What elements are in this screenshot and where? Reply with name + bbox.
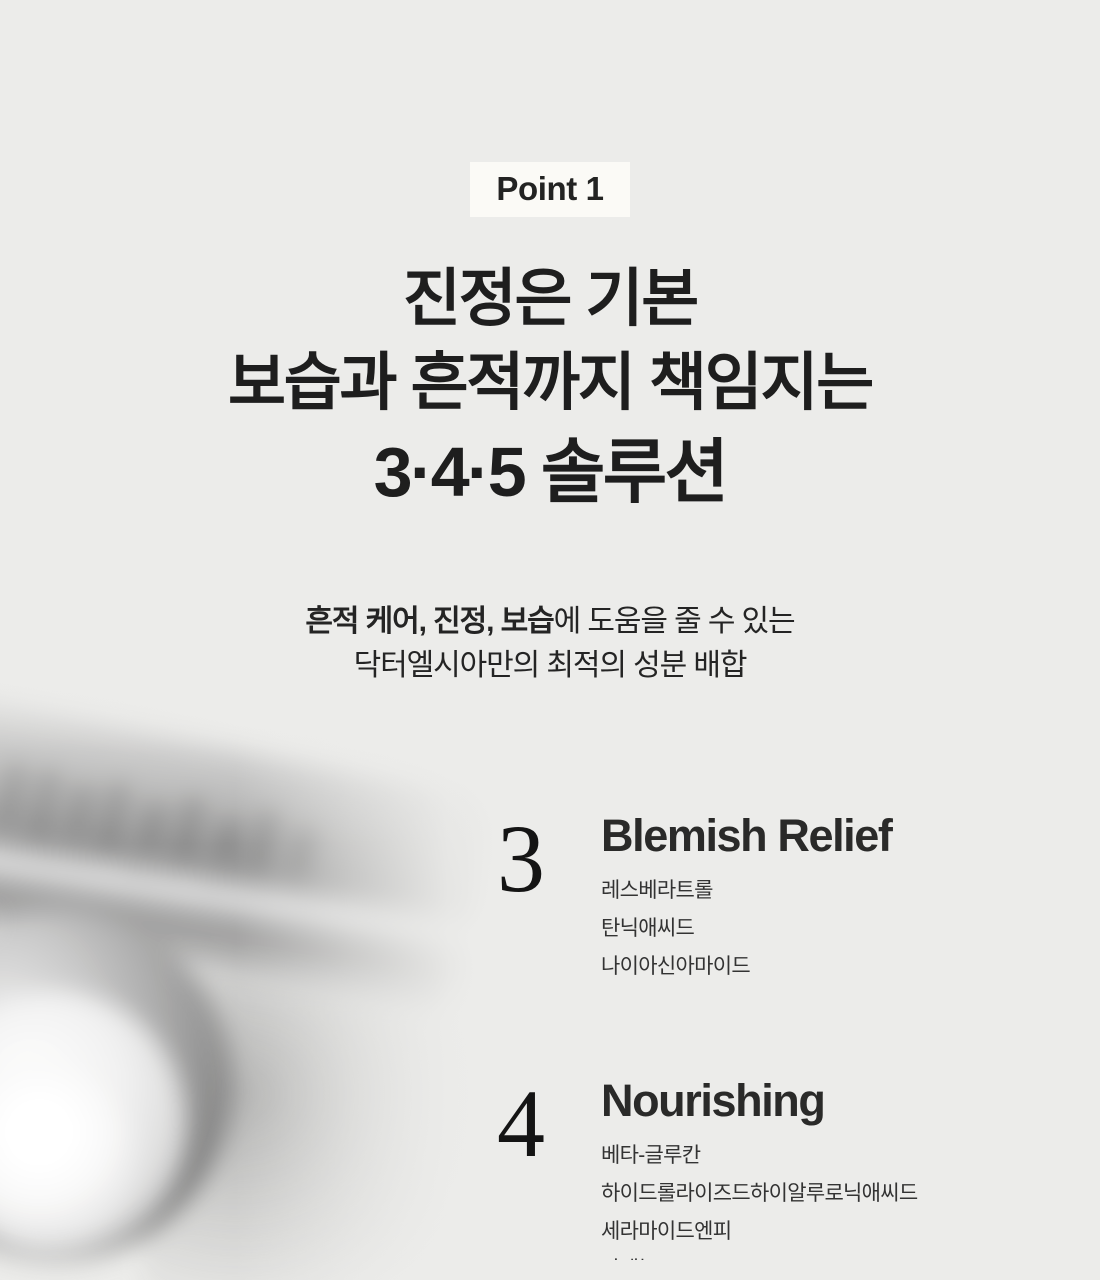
product-detail-page: Point 1 진정은 기본 보습과 흔적까지 책임지는 3·4·5 솔루션 흔… <box>0 0 1100 1280</box>
solution-title-4: Nourishing <box>601 1077 1097 1125</box>
ingredient-item: 탄닉애씨드 <box>601 910 1097 948</box>
solution-item-3: 3 Blemish Relief 레스베라트롤 탄닉애씨드 나이아신아마이드 <box>497 812 1097 986</box>
solution-body-4: Nourishing 베타-글루칸 하이드롤라이즈드하이알루로닉애씨드 세라마이… <box>601 1077 1097 1260</box>
tube-label-print <box>0 760 348 902</box>
solution-title-3: Blemish Relief <box>601 812 1097 860</box>
solution-number-3: 3 <box>497 812 577 906</box>
headline-line-2: 보습과 흔적까지 책임지는 <box>0 342 1100 426</box>
ingredient-item: 세라마이드엔피 <box>601 1213 1097 1251</box>
solution-number-4: 4 <box>497 1077 577 1171</box>
solution-item-4: 4 Nourishing 베타-글루칸 하이드롤라이즈드하이알루로닉애씨드 세라… <box>497 1077 1097 1260</box>
solution-body-3: Blemish Relief 레스베라트롤 탄닉애씨드 나이아신아마이드 <box>601 812 1097 986</box>
tube-label-caption <box>2 848 349 921</box>
subtitle-line-1: 흔적 케어, 진정, 보습에 도움을 줄 수 있는 <box>0 600 1100 644</box>
product-photo <box>0 620 560 1280</box>
product-photo-image <box>0 620 560 1280</box>
subtitle-rest: 에 도움을 줄 수 있는 <box>554 605 795 638</box>
photo-fade-right <box>0 620 560 1280</box>
ingredient-item: 하이드롤라이즈드하이알루로닉애씨드 <box>601 1175 1097 1213</box>
headline-line-3: 3·4·5 솔루션 <box>0 428 1100 518</box>
point-badge-row: Point 1 <box>0 162 1100 217</box>
tube-cap <box>0 910 231 1260</box>
point-badge: Point 1 <box>470 162 629 217</box>
subtitle-line-2: 닥터엘시아만의 최적의 성분 배합 <box>0 644 1100 688</box>
ingredient-item: 레스베라트롤 <box>601 872 1097 910</box>
tube-body <box>0 669 496 1013</box>
tube-cap-ring <box>0 990 187 1255</box>
photo-fade-top <box>0 620 560 1280</box>
tube-highlight-band <box>0 818 502 964</box>
ingredient-item: 판테놀 <box>601 1251 1097 1260</box>
ingredient-item: 나이아신아마이드 <box>601 948 1097 986</box>
headline-block: 진정은 기본 보습과 흔적까지 책임지는 3·4·5 솔루션 <box>0 258 1100 517</box>
ingredient-list-4: 베타-글루칸 하이드롤라이즈드하이알루로닉애씨드 세라마이드엔피 판테놀 <box>601 1137 1097 1261</box>
tube-cap-top <box>0 1056 142 1247</box>
ingredient-list-3: 레스베라트롤 탄닉애씨드 나이아신아마이드 <box>601 872 1097 987</box>
headline-line-1: 진정은 기본 <box>0 258 1100 342</box>
subtitle-block: 흔적 케어, 진정, 보습에 도움을 줄 수 있는 닥터엘시아만의 최적의 성분… <box>0 600 1100 688</box>
tube-shadow <box>142 950 492 1280</box>
subtitle-emphasis: 흔적 케어, 진정, 보습 <box>305 605 553 638</box>
ingredient-item: 베타-글루칸 <box>601 1137 1097 1175</box>
